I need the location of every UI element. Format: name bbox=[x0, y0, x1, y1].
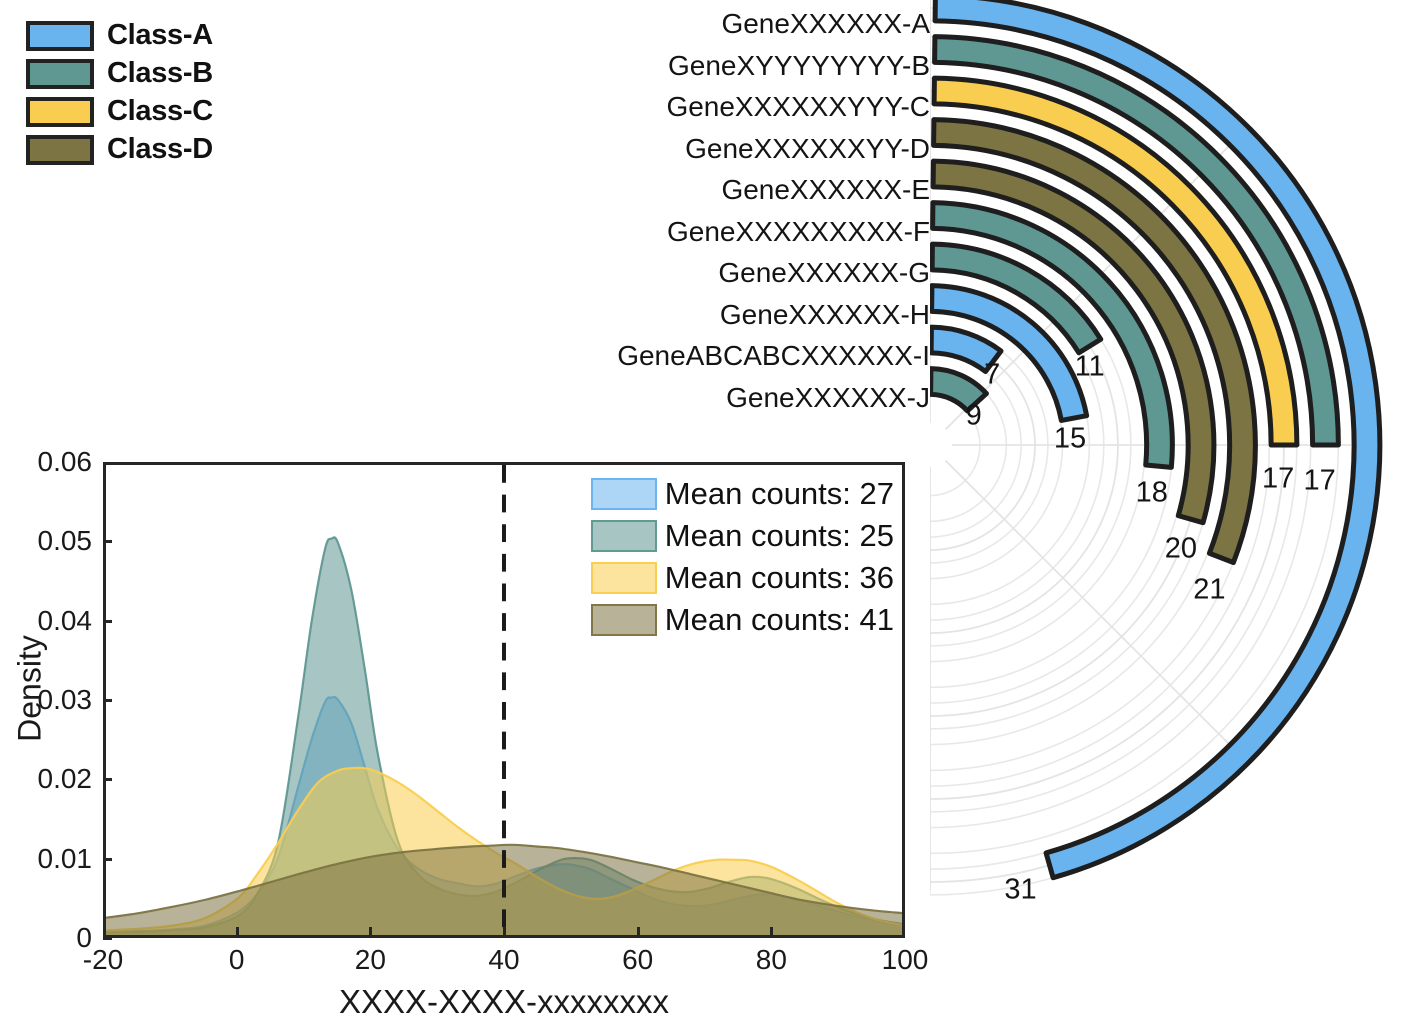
y-tick-mark-1 bbox=[103, 858, 112, 861]
radial-bar-value-7: 15 bbox=[1054, 423, 1086, 456]
legend-item-class-c[interactable]: Class-C bbox=[26, 94, 213, 129]
radial-bar-panel: 311717212018111579 bbox=[930, 0, 1404, 945]
density-legend-item-1[interactable]: Mean counts: 25 bbox=[591, 515, 894, 557]
radial-bar-value-6: 11 bbox=[1075, 350, 1105, 383]
y-tick-mark-3 bbox=[103, 699, 112, 702]
y-axis-label: Density bbox=[12, 489, 49, 889]
density-legend-item-0[interactable]: Mean counts: 27 bbox=[591, 473, 894, 515]
density-legend-swatch-0 bbox=[591, 478, 657, 510]
legend-swatch-class-b bbox=[26, 59, 94, 89]
radial-bar-value-4: 20 bbox=[1165, 532, 1197, 565]
density-plot-panel: 00.010.020.030.040.050.06 Mean counts: 2… bbox=[0, 440, 930, 1010]
radial-bar-value-9: 9 bbox=[966, 399, 982, 432]
density-legend-label-0: Mean counts: 27 bbox=[665, 476, 894, 512]
x-tick-label-0: -20 bbox=[83, 944, 123, 976]
radial-bar-value-2: 17 bbox=[1262, 462, 1294, 495]
gene-label-0: GeneXXXXXX-A bbox=[721, 8, 930, 40]
density-legend: Mean counts: 27 Mean counts: 25 Mean cou… bbox=[591, 473, 894, 641]
x-axis-label: XXXX-XXXX-xxxxxxxx bbox=[103, 983, 905, 1021]
gene-label-6: GeneXXXXXX-G bbox=[718, 257, 930, 289]
density-legend-label-1: Mean counts: 25 bbox=[665, 518, 894, 554]
legend-item-class-d[interactable]: Class-D bbox=[26, 132, 213, 167]
radial-bar-value-0: 31 bbox=[1004, 873, 1036, 906]
legend-label-class-a: Class-A bbox=[107, 21, 213, 50]
legend-label-class-c: Class-C bbox=[107, 97, 213, 126]
radial-bar-value-3: 21 bbox=[1193, 573, 1225, 606]
density-legend-item-2[interactable]: Mean counts: 36 bbox=[591, 557, 894, 599]
gene-label-8: GeneABCABCXXXXXX-I bbox=[617, 340, 930, 372]
y-tick-mark-5 bbox=[103, 540, 112, 543]
y-tick-mark-4 bbox=[103, 620, 112, 623]
gene-label-4: GeneXXXXXX-E bbox=[721, 174, 930, 206]
legend-label-class-b: Class-B bbox=[107, 59, 213, 88]
radial-bar-value-8: 7 bbox=[984, 359, 1000, 392]
x-tick-label-3: 40 bbox=[488, 944, 519, 976]
y-tick-mark-2 bbox=[103, 778, 112, 781]
density-legend-label-2: Mean counts: 36 bbox=[665, 560, 894, 596]
y-tick-mark-0 bbox=[103, 937, 112, 940]
x-tick-mark-3 bbox=[503, 927, 506, 936]
density-plot-area: Mean counts: 27 Mean counts: 25 Mean cou… bbox=[103, 462, 905, 938]
legend-swatch-class-a bbox=[26, 21, 94, 51]
gene-label-5: GeneXXXXXXXXX-F bbox=[667, 216, 930, 248]
radial-bar-value-1: 17 bbox=[1303, 464, 1335, 497]
radial-bar-value-5: 18 bbox=[1136, 477, 1168, 510]
x-tick-label-4: 60 bbox=[622, 944, 653, 976]
x-tick-label-6: 100 bbox=[882, 944, 929, 976]
legend-item-class-b[interactable]: Class-B bbox=[26, 56, 213, 91]
legend-swatch-class-d bbox=[26, 135, 94, 165]
density-legend-label-3: Mean counts: 41 bbox=[665, 602, 894, 638]
x-tick-label-2: 20 bbox=[355, 944, 386, 976]
density-legend-item-3[interactable]: Mean counts: 41 bbox=[591, 599, 894, 641]
x-tick-label-1: 0 bbox=[229, 944, 245, 976]
x-tick-label-5: 80 bbox=[756, 944, 787, 976]
x-tick-mark-1 bbox=[236, 927, 239, 936]
density-legend-swatch-3 bbox=[591, 604, 657, 636]
density-legend-swatch-1 bbox=[591, 520, 657, 552]
x-tick-mark-5 bbox=[770, 927, 773, 936]
legend-swatch-class-c bbox=[26, 97, 94, 127]
density-legend-swatch-2 bbox=[591, 562, 657, 594]
legend-label-class-d: Class-D bbox=[107, 135, 213, 164]
y-tick-label-6: 0.06 bbox=[38, 446, 93, 478]
gene-label-1: GeneXYYYYYYYY-B bbox=[668, 50, 930, 82]
gene-label-2: GeneXXXXXXYYY-C bbox=[666, 91, 930, 123]
x-tick-mark-2 bbox=[369, 927, 372, 936]
gene-label-9: GeneXXXXXX-J bbox=[726, 382, 930, 414]
legend-item-class-a[interactable]: Class-A bbox=[26, 18, 213, 53]
gene-label-column: GeneXXXXXX-AGeneXYYYYYYYY-BGeneXXXXXXYYY… bbox=[560, 0, 930, 450]
gene-label-3: GeneXXXXXXYY-D bbox=[685, 133, 930, 165]
class-legend: Class-A Class-B Class-C Class-D bbox=[26, 18, 213, 170]
x-tick-mark-4 bbox=[637, 927, 640, 936]
gene-label-7: GeneXXXXXX-H bbox=[720, 299, 930, 331]
